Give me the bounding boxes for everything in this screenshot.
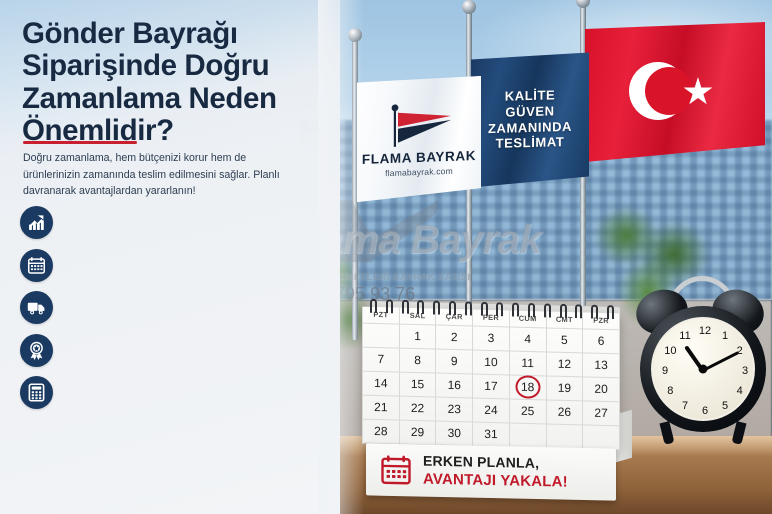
calendar-day-cell[interactable]: 21 — [363, 395, 400, 420]
benefits-list — [20, 206, 335, 419]
brand-flag-title: FLAMA BAYRAK — [362, 148, 476, 167]
cta-line-2: AVANTAJI YAKALA! — [423, 471, 568, 491]
clock-numeral: 2 — [737, 345, 743, 357]
calendar-day-cell[interactable]: 29 — [399, 420, 436, 445]
navy-flag-line-4: TESLİMAT — [496, 135, 565, 152]
title-divider — [23, 141, 137, 144]
quality-award-icon — [20, 334, 53, 367]
brand-flag-url: flamabayrak.com — [385, 165, 453, 177]
calendar-day-cell[interactable]: 10 — [473, 350, 510, 375]
clock-leg-icon — [659, 421, 674, 445]
clock-numeral: 10 — [664, 345, 676, 357]
alarm-clock: 121234567891011 — [634, 272, 772, 447]
calendar-day-cell[interactable]: 28 — [363, 419, 400, 444]
calendar-day-cell[interactable]: 30 — [436, 421, 473, 446]
calendar-day-cell[interactable]: 23 — [436, 397, 473, 422]
calendar-empty-cell — [509, 422, 546, 447]
bar-chart-growth-icon — [20, 206, 53, 239]
clock-numeral: 1 — [722, 330, 728, 342]
calendar-day-cell[interactable]: 26 — [546, 399, 583, 424]
spiral-ring-icon — [591, 305, 598, 319]
calendar-day-cell[interactable]: 18 — [509, 374, 546, 399]
spiral-ring-icon — [560, 304, 567, 318]
clock-center-pin-icon — [699, 365, 708, 374]
spiral-ring-icon — [417, 300, 424, 314]
spiral-ring-icon — [528, 303, 535, 317]
calendar-day-cell[interactable]: 27 — [583, 400, 620, 425]
calendar-day-cell[interactable]: 12 — [546, 351, 583, 376]
calendar-day-cell[interactable]: 9 — [436, 349, 473, 374]
calendar-day-cell[interactable]: 17 — [473, 374, 510, 399]
calendar-day-cell[interactable]: 15 — [399, 372, 436, 397]
benefit-item — [20, 376, 335, 409]
calendar-day-cell[interactable]: 20 — [583, 376, 620, 401]
calendar-day-cell[interactable]: 19 — [546, 375, 583, 400]
calendar-empty-cell — [546, 423, 583, 448]
spiral-ring-icon — [512, 303, 519, 317]
calendar-day-cell[interactable]: 8 — [399, 348, 436, 373]
calendar-icon — [20, 249, 53, 282]
spiral-ring-icon — [449, 301, 456, 315]
calendar-day-cell[interactable]: 16 — [436, 373, 473, 398]
spiral-ring-icon — [386, 299, 393, 313]
calculator-icon — [20, 376, 53, 409]
calendar-day-cell[interactable]: 31 — [473, 422, 510, 447]
navy-flag-line-1: KALİTE — [505, 88, 556, 104]
clock-numeral: 4 — [737, 385, 743, 397]
calendar-day-cell[interactable]: 24 — [473, 398, 510, 423]
spiral-ring-icon — [575, 304, 582, 318]
calendar-day-cell[interactable]: 13 — [583, 352, 620, 377]
calendar-empty-cell — [363, 323, 400, 348]
calendar-page: PZTSALÇARPERCUMCMTPZR 123456789101112131… — [362, 307, 620, 450]
benefit-item — [20, 249, 335, 282]
calendar-icon — [380, 454, 412, 487]
cta-line-1: ERKEN PLANLA, — [423, 453, 539, 471]
clock-numeral: 8 — [667, 385, 673, 397]
calendar-day-cell[interactable]: 22 — [399, 396, 436, 421]
calendar-day-cell[interactable]: 1 — [399, 324, 436, 349]
page-title: Gönder Bayrağı Siparişinde Doğru Zamanla… — [22, 18, 332, 148]
flama-bayrak-logo-icon — [377, 100, 461, 149]
clock-numeral: 7 — [682, 400, 688, 412]
navy-flag-line-2: GÜVEN — [505, 104, 554, 120]
spiral-ring-icon — [496, 302, 503, 316]
clock-numeral: 5 — [722, 400, 728, 412]
spiral-ring-icon — [433, 300, 440, 314]
clock-face: 121234567891011 — [651, 317, 755, 421]
benefit-item — [20, 206, 335, 239]
clock-leg-icon — [731, 421, 746, 445]
clock-minute-hand-icon — [702, 351, 739, 372]
calendar-day-cell[interactable]: 14 — [363, 371, 400, 396]
navy-slogan-flag: KALİTE GÜVEN ZAMANINDA TESLİMAT — [471, 52, 589, 187]
benefit-item — [20, 291, 335, 324]
calendar-day-cell[interactable]: 7 — [363, 347, 400, 372]
spiral-ring-icon — [481, 302, 488, 316]
clock-numeral: 11 — [679, 330, 690, 342]
calendar-day-cell[interactable]: 25 — [509, 398, 546, 423]
calendar-day-cell[interactable]: 2 — [436, 325, 473, 350]
spiral-ring-icon — [607, 305, 614, 319]
crescent-icon — [629, 62, 687, 120]
calendar-empty-cell — [583, 424, 620, 449]
flagpole-knob-icon — [462, 0, 476, 14]
spiral-ring-icon — [370, 299, 377, 313]
calendar-day-cell[interactable]: 5 — [546, 327, 583, 352]
delivery-truck-icon — [20, 291, 53, 324]
spiral-ring-icon — [402, 300, 409, 314]
calendar-day-cell[interactable]: 6 — [583, 328, 620, 353]
brand-flag: FLAMA BAYRAK flamabayrak.com — [357, 76, 481, 202]
spiral-ring-icon — [465, 301, 472, 315]
turkish-flag — [585, 22, 765, 162]
clock-numeral: 9 — [662, 365, 668, 377]
cta-banner[interactable]: ERKEN PLANLA, AVANTAJI YAKALA! — [366, 443, 616, 500]
clock-numeral: 6 — [702, 405, 708, 417]
benefit-item — [20, 334, 335, 367]
calendar-day-cell[interactable]: 4 — [509, 326, 546, 351]
intro-paragraph: Doğru zamanlama, hem bütçenizi korur hem… — [23, 150, 291, 200]
calendar-day-cell[interactable]: 3 — [473, 326, 510, 351]
calendar-table: PZTSALÇARPERCUMCMTPZR 123456789101112131… — [362, 307, 620, 450]
clock-numeral: 3 — [742, 365, 748, 377]
clock-numeral: 12 — [699, 325, 711, 337]
calendar-day-cell[interactable]: 11 — [509, 350, 546, 375]
spiral-ring-icon — [544, 303, 551, 317]
